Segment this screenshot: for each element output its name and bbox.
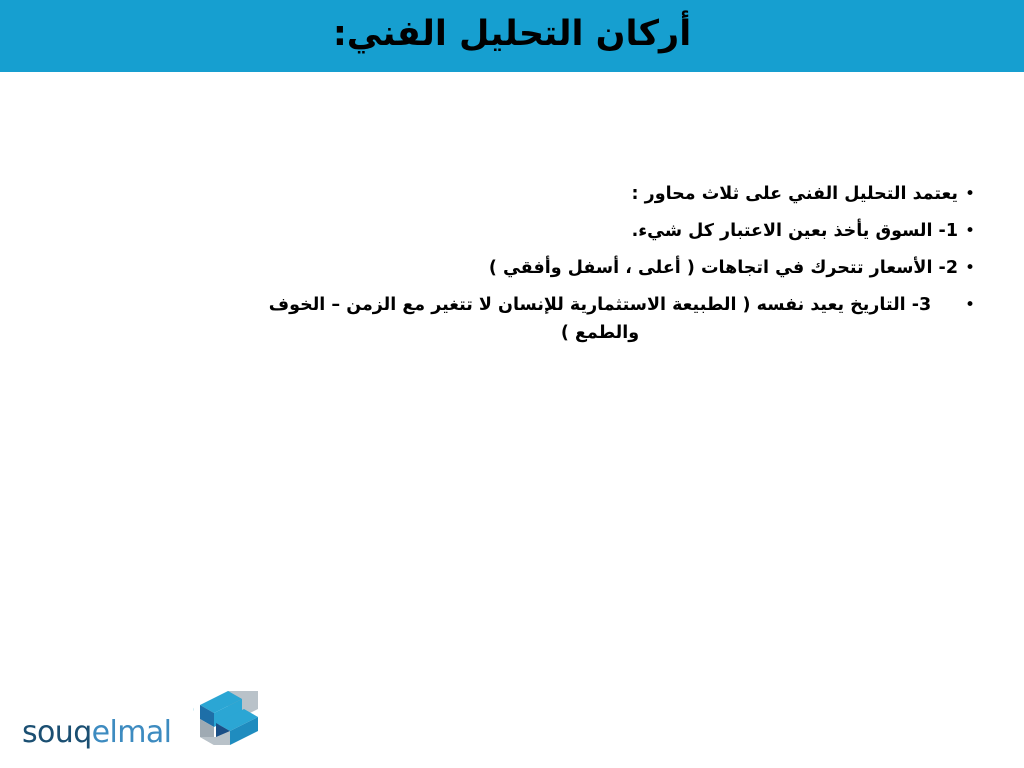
- bullet-item-label: 1- السوق يأخذ بعين الاعتبار كل شيء.: [242, 217, 958, 245]
- slide-header-band: أركان التحليل الفني:: [0, 0, 1024, 72]
- bullet-point-icon: •: [958, 217, 982, 245]
- list-item: • 1- السوق يأخذ بعين الاعتبار كل شيء.: [242, 217, 982, 245]
- page-title: أركان التحليل الفني:: [333, 16, 691, 57]
- bullet-list: • يعتمد التحليل الفني على ثلاث محاور : •…: [242, 180, 982, 356]
- bullet-point-icon: •: [958, 291, 982, 319]
- logo-latin-text: souqelmal: [22, 715, 194, 749]
- logo-arabic-text: سـوق الـمـال: [22, 688, 194, 716]
- svg-text:سـوق الـمـال: سـوق الـمـال: [192, 688, 194, 716]
- list-item: • 3- التاريخ يعيد نفسه ( الطبيعة الاستثم…: [242, 291, 982, 347]
- list-item: • 2- الأسعار تتحرك في اتجاهات ( أعلى ، أ…: [242, 254, 982, 282]
- bullet-item-label: يعتمد التحليل الفني على ثلاث محاور :: [242, 180, 958, 208]
- list-item: • يعتمد التحليل الفني على ثلاث محاور :: [242, 180, 982, 208]
- bullet-item-label: 3- التاريخ يعيد نفسه ( الطبيعة الاستثمار…: [242, 291, 958, 347]
- souqelmal-logo: سـوق الـمـال souqelmal: [22, 676, 264, 754]
- slide-content-area: • يعتمد التحليل الفني على ثلاث محاور : •…: [0, 72, 1024, 768]
- svg-text:souqelmal: souqelmal: [22, 715, 171, 749]
- logo-wordmark: سـوق الـمـال souqelmal: [22, 688, 194, 750]
- bullet-point-icon: •: [958, 180, 982, 208]
- bullet-item-label: 2- الأسعار تتحرك في اتجاهات ( أعلى ، أسف…: [242, 254, 958, 282]
- bullet-point-icon: •: [958, 254, 982, 282]
- souqelmal-cube-icon: [198, 689, 260, 747]
